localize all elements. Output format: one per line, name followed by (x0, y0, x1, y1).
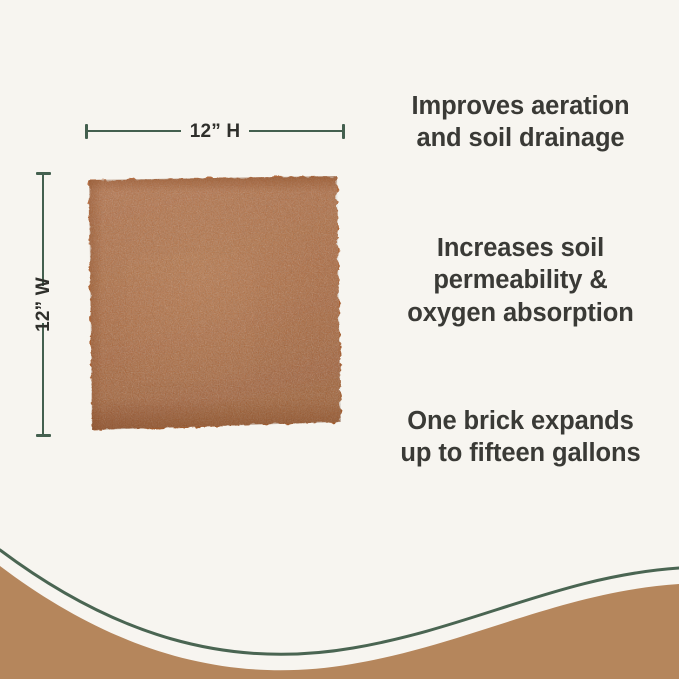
infographic-canvas: 12” H 12” W (0, 0, 679, 679)
dimension-vertical: 12” W (30, 172, 56, 437)
benefit-line: Increases soil (362, 232, 679, 264)
dimension-line-horizontal-icon (88, 130, 181, 132)
benefit-line: permeability & (362, 264, 679, 296)
benefits-list: Improves aeration and soil drainage Incr… (362, 0, 679, 520)
benefit-line: Improves aeration (362, 90, 679, 122)
dimension-horizontal-label: 12” H (181, 122, 250, 141)
dimension-horizontal: 12” H (85, 118, 345, 144)
benefit-line: and soil drainage (362, 122, 679, 154)
dimension-line-vertical-icon (42, 175, 44, 286)
dimension-line-vertical-icon (42, 323, 44, 434)
benefit-item-aeration-drainage: Improves aeration and soil drainage (362, 90, 679, 155)
soil-wave-fill (0, 566, 679, 679)
dimension-vertical-label: 12” W (25, 277, 62, 332)
benefit-item-permeability-oxygen: Increases soil permeability & oxygen abs… (362, 232, 679, 329)
dimension-end-cap-right-icon (342, 124, 345, 139)
dimension-line-horizontal-icon (249, 130, 342, 132)
soil-wave-stroke-icon (0, 550, 679, 654)
benefit-item-expansion-volume: One brick expands up to fifteen gallons (362, 405, 679, 470)
benefit-line: One brick expands (362, 405, 679, 437)
coir-brick-image (83, 170, 346, 438)
benefit-line: up to fifteen gallons (362, 437, 679, 469)
product-panel: 12” H 12” W (0, 0, 360, 520)
soil-wave-divider (0, 514, 679, 679)
dimension-end-cap-bottom-icon (36, 434, 51, 437)
benefit-line: oxygen absorption (362, 297, 679, 329)
